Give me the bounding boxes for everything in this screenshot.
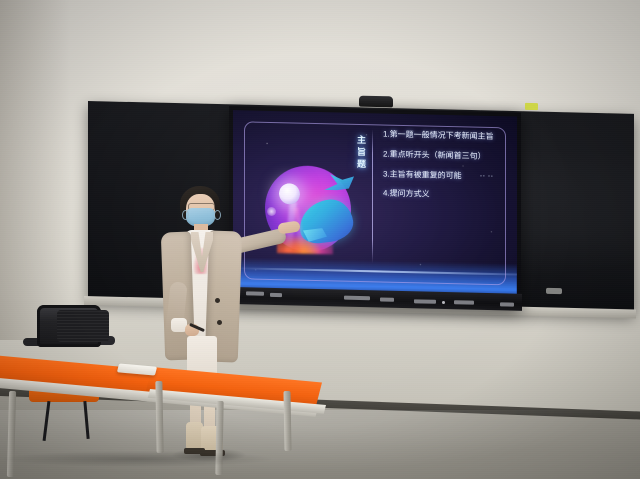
chair-backrest (37, 305, 101, 347)
jacket-button (217, 320, 222, 325)
desk-shadow (2, 451, 272, 467)
student-desk[interactable] (0, 355, 322, 475)
control-button[interactable] (500, 302, 514, 306)
power-led-icon (442, 301, 445, 304)
control-button[interactable] (414, 299, 436, 304)
control-button[interactable] (380, 297, 394, 301)
chalk-piece (546, 288, 562, 294)
camera-icon (359, 96, 393, 108)
mask-ear-loop (182, 210, 189, 220)
presentation-slide: 主旨题 1.第一题一般情况下考新闻主旨 2.重点听开头（新闻首三句） 3.主旨有… (233, 110, 517, 297)
control-button[interactable] (344, 296, 370, 301)
jacket-button (215, 298, 220, 303)
control-button[interactable] (270, 293, 282, 297)
control-button[interactable] (454, 300, 474, 304)
wall-shading (0, 0, 70, 340)
chair-mesh (57, 310, 109, 342)
desk-leg (7, 391, 16, 477)
desk-leg (155, 381, 163, 453)
desk-leg (283, 391, 291, 451)
slide-border-frame (244, 121, 506, 285)
mask-ear-loop (214, 210, 221, 220)
classroom-scene: 主旨题 1.第一题一般情况下考新闻主旨 2.重点听开头（新闻首三句） 3.主旨有… (0, 0, 640, 479)
board-sticker (525, 103, 538, 110)
interactive-display[interactable]: 主旨题 1.第一题一般情况下考新闻主旨 2.重点听开头（新闻首三句） 3.主旨有… (229, 106, 521, 309)
